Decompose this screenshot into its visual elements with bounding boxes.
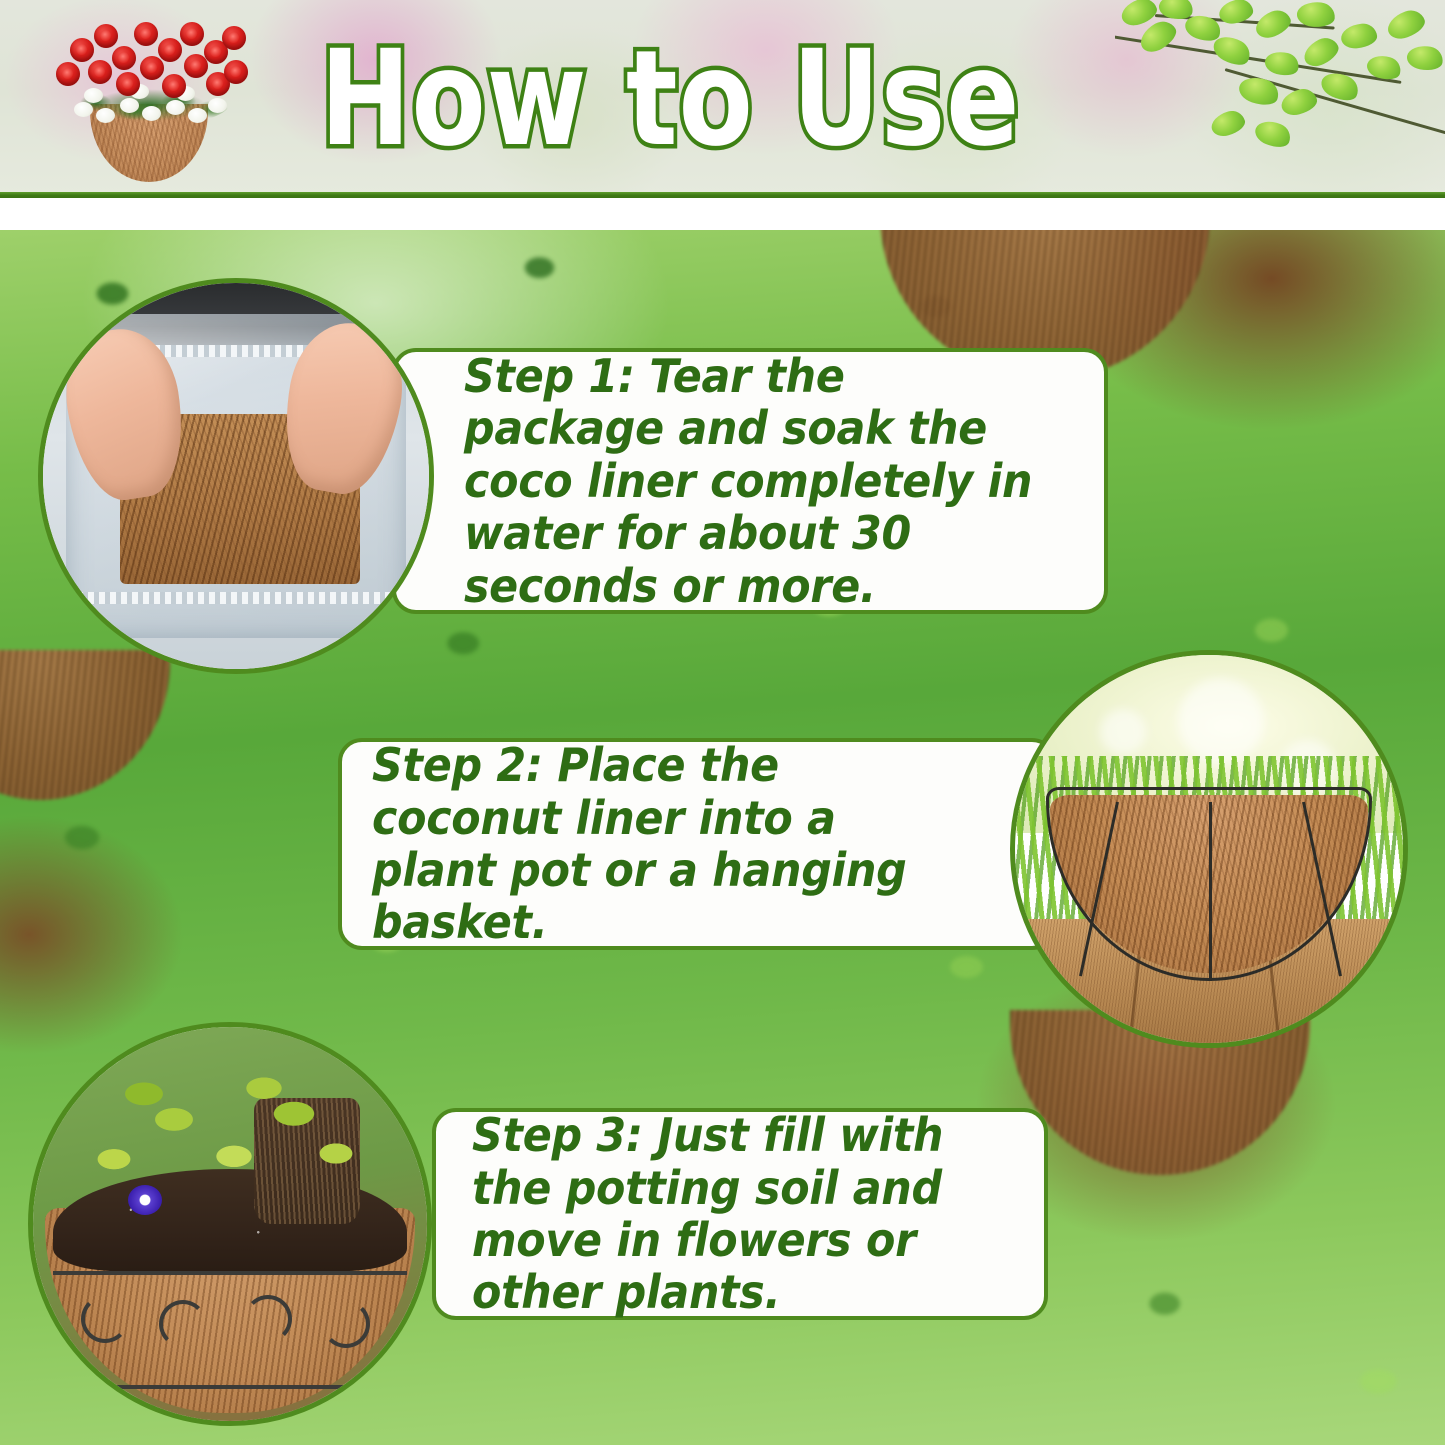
step-2-photo-scene xyxy=(1015,655,1403,1043)
scroll-curl xyxy=(244,1295,292,1343)
scroll-curl xyxy=(322,1300,370,1348)
step-2-callout: Step 2: Place the coconut liner into a p… xyxy=(338,738,1056,950)
scroll-curl xyxy=(81,1295,129,1343)
page-title: How to Use xyxy=(320,24,1140,174)
step-3-callout: Step 3: Just fill with the potting soil … xyxy=(432,1108,1048,1320)
background-hanging-basket xyxy=(0,650,170,800)
step-1-photo-scene xyxy=(43,283,429,669)
how-to-use-infographic: How to Use xyxy=(0,0,1445,1445)
header-banner: How to Use xyxy=(0,0,1445,198)
tray-rim-bottom xyxy=(66,592,406,604)
step-3-text: Step 3: Just fill with the potting soil … xyxy=(472,1109,984,1319)
step-1-callout: Step 1: Tear the package and soak the co… xyxy=(392,348,1108,614)
basket-scrollwork xyxy=(53,1271,408,1389)
step-2-photo xyxy=(1010,650,1408,1048)
purple-flower xyxy=(128,1185,162,1215)
step-1-photo xyxy=(38,278,434,674)
plant-foliage xyxy=(72,1074,371,1216)
bokeh-light xyxy=(1178,678,1264,764)
step-3-photo-scene xyxy=(33,1027,427,1421)
leaf-branch-icon xyxy=(1115,0,1445,184)
basket-rib xyxy=(1209,802,1212,980)
step-1-text: Step 1: Tear the package and soak the co… xyxy=(464,350,1039,612)
scroll-curl xyxy=(159,1300,207,1348)
page-title-text: How to Use xyxy=(320,33,1020,165)
step-2-text: Step 2: Place the coconut liner into a p… xyxy=(372,739,936,949)
rose-basket-icon xyxy=(30,12,265,184)
step-3-photo xyxy=(28,1022,432,1426)
rose-basket-red-roses xyxy=(54,16,244,108)
header-divider xyxy=(0,192,1445,198)
